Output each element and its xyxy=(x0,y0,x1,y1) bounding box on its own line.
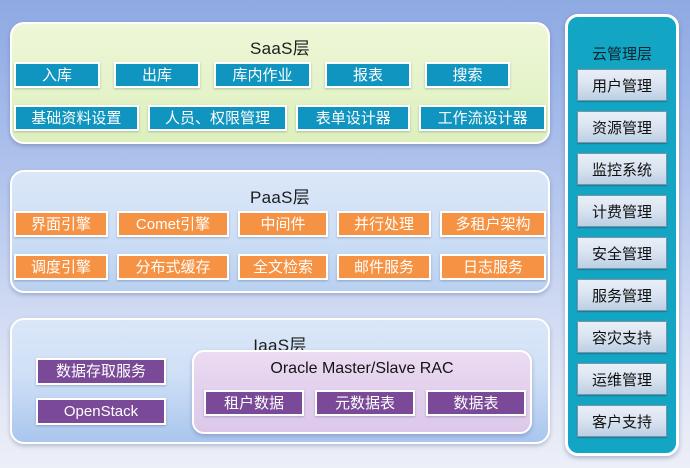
paas-chip-comet-yinqing[interactable]: Comet引擎 xyxy=(117,211,229,237)
saas-chip-gongzuoliushejiqi[interactable]: 工作流设计器 xyxy=(419,105,546,131)
saas-chip-ruku[interactable]: 入库 xyxy=(14,62,100,88)
saas-chip-biaodanshejiqi[interactable]: 表单设计器 xyxy=(296,105,410,131)
saas-chip-jichuziliaoshezhi[interactable]: 基础资料设置 xyxy=(14,105,139,131)
saas-layer-title: SaaS层 xyxy=(12,34,548,59)
paas-chip-diaoduyinqing[interactable]: 调度引擎 xyxy=(14,254,108,280)
cloud-item-billing-management[interactable]: 计费管理 xyxy=(577,195,667,227)
saas-chip-kuneizuoye[interactable]: 库内作业 xyxy=(214,62,311,88)
oracle-chip-zuhushuju[interactable]: 租户数据 xyxy=(204,390,304,416)
paas-chip-fenbushihuancun[interactable]: 分布式缓存 xyxy=(117,254,229,280)
paas-chip-duozuhujiagou[interactable]: 多租户架构 xyxy=(440,211,546,237)
cloud-item-service-management[interactable]: 服务管理 xyxy=(577,279,667,311)
cloud-management-panel: 云管理层 用户管理 资源管理 监控系统 计费管理 安全管理 服务管理 容灾支持 … xyxy=(565,14,679,456)
oracle-rac-row: 租户数据 元数据表 数据表 xyxy=(204,390,526,416)
paas-layer-title: PaaS层 xyxy=(12,183,548,208)
iaas-chip-openstack[interactable]: OpenStack xyxy=(36,398,166,425)
iaas-chip-shujucunquifuwu[interactable]: 数据存取服务 xyxy=(36,358,166,385)
paas-chip-quanwenjiansuo[interactable]: 全文检索 xyxy=(238,254,328,280)
cloud-item-disaster-recovery[interactable]: 容灾支持 xyxy=(577,321,667,353)
cloud-item-user-management[interactable]: 用户管理 xyxy=(577,69,667,101)
iaas-left-column: 数据存取服务 OpenStack xyxy=(36,358,166,425)
saas-chip-baobiao[interactable]: 报表 xyxy=(325,62,411,88)
cloud-management-title: 云管理层 xyxy=(568,43,676,64)
paas-row-1: 界面引擎 Comet引擎 中间件 并行处理 多租户架构 xyxy=(14,211,546,237)
saas-row-2: 基础资料设置 人员、权限管理 表单设计器 工作流设计器 xyxy=(14,105,546,131)
cloud-item-resource-management[interactable]: 资源管理 xyxy=(577,111,667,143)
paas-chip-jiemianyinqing[interactable]: 界面引擎 xyxy=(14,211,108,237)
cloud-item-monitoring-system[interactable]: 监控系统 xyxy=(577,153,667,185)
cloud-management-list: 用户管理 资源管理 监控系统 计费管理 安全管理 服务管理 容灾支持 运维管理 … xyxy=(577,69,667,437)
cloud-item-security-management[interactable]: 安全管理 xyxy=(577,237,667,269)
paas-chip-zhongjianjian[interactable]: 中间件 xyxy=(238,211,328,237)
cloud-item-operations-management[interactable]: 运维管理 xyxy=(577,363,667,395)
paas-chip-rizhifuwu[interactable]: 日志服务 xyxy=(440,254,546,280)
paas-row-2: 调度引擎 分布式缓存 全文检索 邮件服务 日志服务 xyxy=(14,254,546,280)
saas-chip-chuku[interactable]: 出库 xyxy=(114,62,200,88)
oracle-rac-panel: Oracle Master/Slave RAC 租户数据 元数据表 数据表 xyxy=(192,350,532,434)
saas-chip-renyuanquanxianguanli[interactable]: 人员、权限管理 xyxy=(148,105,288,131)
oracle-chip-shujubiao[interactable]: 数据表 xyxy=(426,390,526,416)
oracle-rac-title: Oracle Master/Slave RAC xyxy=(194,360,530,378)
oracle-chip-yuanshujubiao[interactable]: 元数据表 xyxy=(315,390,415,416)
saas-chip-sousuo[interactable]: 搜索 xyxy=(425,62,510,88)
cloud-item-customer-support[interactable]: 客户支持 xyxy=(577,405,667,437)
architecture-diagram: SaaS层 入库 出库 库内作业 报表 搜索 基础资料设置 人员、权限管理 表单… xyxy=(0,0,690,468)
paas-chip-youjianfuwu[interactable]: 邮件服务 xyxy=(337,254,431,280)
saas-row-1: 入库 出库 库内作业 报表 搜索 xyxy=(14,62,546,88)
paas-chip-bingxingchuli[interactable]: 并行处理 xyxy=(337,211,431,237)
